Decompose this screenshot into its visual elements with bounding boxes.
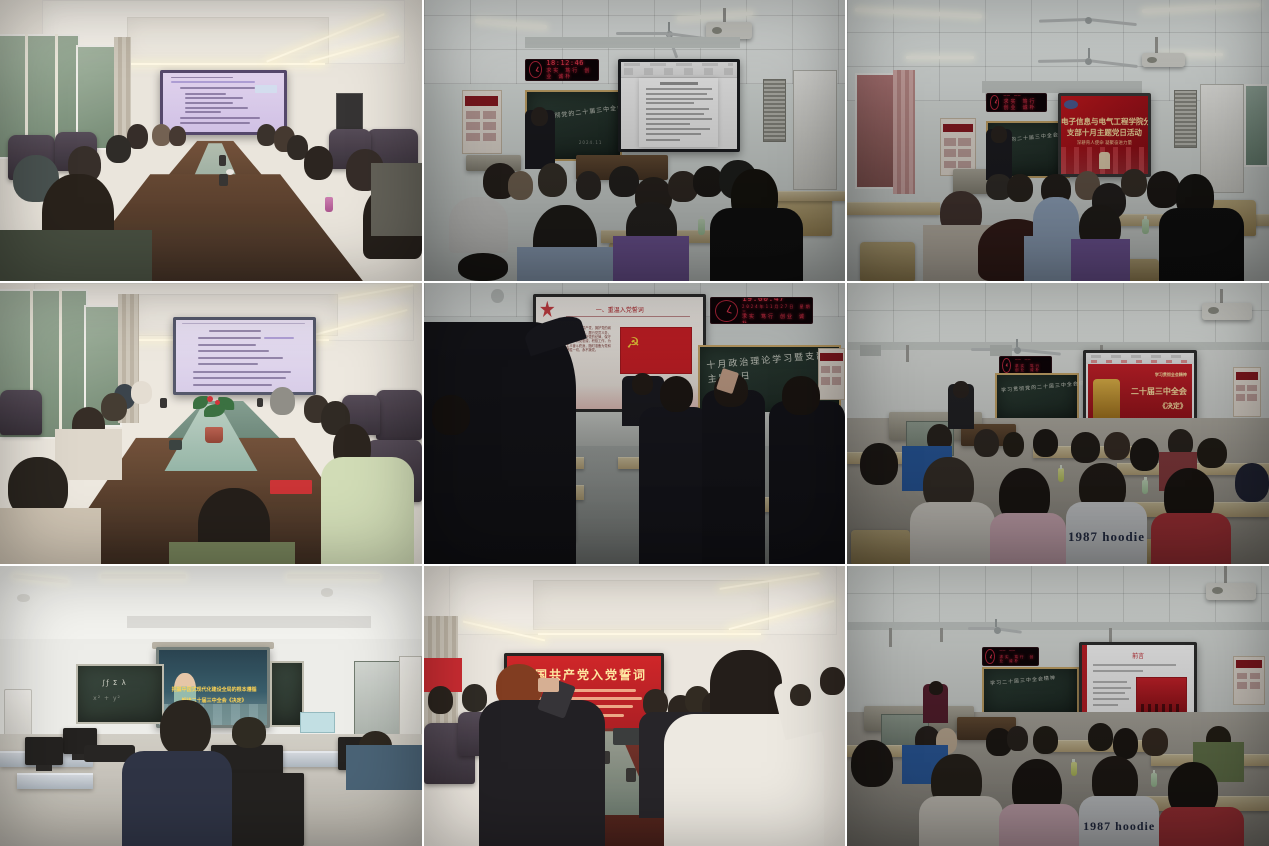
person-head (1033, 429, 1058, 457)
blackboard-left: ∫ƒ Σ λ x² + y² (76, 664, 164, 724)
hammer-sickle-icon: ☭ (626, 336, 639, 351)
person-body-foreground (0, 508, 101, 564)
person-head-cap (1235, 463, 1269, 502)
person-body-suit (479, 700, 605, 846)
person-body-foreground (169, 542, 296, 564)
slide-document-purple (176, 320, 313, 393)
ceiling-fan (965, 619, 1024, 639)
person-head (1104, 432, 1129, 460)
person-body (1159, 208, 1243, 281)
person-head (1007, 726, 1028, 751)
water-bottle (698, 219, 705, 235)
water-bottle (325, 197, 333, 212)
slide-building-graphic (1099, 152, 1109, 169)
person-body-hoodie: 1987 hoodie (1079, 796, 1159, 846)
wall-poster (1233, 367, 1260, 417)
person-foreground-left (424, 322, 576, 564)
ceiling-light-b (101, 574, 185, 579)
person-head (790, 684, 811, 706)
led-banner-text: —— —— 求实 笃行 创业 诚朴 (999, 93, 1046, 112)
classroom-lecture-female-scene: —— —— 求实 笃行 创业 诚朴 学习二十届三中全会精神 前言 (847, 566, 1269, 846)
classroom-party-scene: —— —— 求实 笃行 创业 诚朴 学习党的二十届三中全会精神 (847, 0, 1269, 281)
ceiling-beam (847, 622, 1269, 630)
microphone-b (257, 398, 263, 407)
slide-title-line1: 电子信息与电气工程学院分党委 (1061, 116, 1148, 127)
person-body (55, 429, 123, 480)
person-head (1197, 438, 1227, 469)
led-banner-text: —— —— 求实 笃行 创业 诚朴 (995, 649, 1037, 663)
person-head (232, 717, 266, 748)
person-body-red-2 (1151, 513, 1231, 564)
chair-right-1 (376, 390, 422, 441)
notice-board (300, 712, 336, 734)
person-head (1130, 438, 1160, 472)
poster-title-band (465, 96, 498, 106)
photo-cell-middle-left[interactable] (0, 283, 422, 564)
person-body-pink (990, 513, 1066, 564)
flower-arrangement (190, 393, 241, 444)
person-body-foreground (122, 751, 232, 846)
person-head (851, 740, 893, 788)
wall-poster (940, 118, 976, 176)
led-banner: 18:12:46 求实 笃行 创业 诚朴 (525, 59, 599, 81)
water-bottle (1142, 219, 1149, 234)
led-subtext: 求实 笃行 创业 诚朴 (546, 68, 597, 81)
projection-screen: 电子信息与电气工程学院分党委 支部十月主题党日活动 深耕育人使命 凝聚奋进力量 (1058, 93, 1151, 177)
speaker-mount-2 (940, 628, 943, 642)
speaker-head (953, 381, 968, 398)
person-hood (449, 197, 508, 253)
hoodie-text: 1987 hoodie (1079, 819, 1159, 834)
person-head (1142, 728, 1167, 756)
slide-heading-rule (566, 316, 689, 317)
wall-poster (462, 90, 502, 154)
person-head (1033, 726, 1058, 754)
person-head (576, 171, 601, 199)
lab-bench (17, 773, 93, 789)
person-head (131, 381, 152, 403)
person-body (769, 401, 845, 564)
led-subtext: 求实 笃行 创业 诚朴 (999, 655, 1037, 664)
ceiling-beam (525, 37, 740, 48)
fan-rod (668, 22, 670, 31)
chair (860, 242, 915, 281)
window-right (1244, 84, 1269, 167)
photo-collage-grid: 18:12:46 求实 笃行 创业 诚朴 学习贯彻党的二十届三中全会精神 十月主… (0, 0, 1269, 846)
monitor[interactable] (25, 737, 63, 765)
photo-cell-top-right[interactable]: —— —— 求实 笃行 创业 诚朴 学习党的二十届三中全会精神 (847, 0, 1269, 281)
drink-bottle (1071, 762, 1077, 776)
wall-fan-2 (990, 345, 1011, 356)
wall-poster (1233, 656, 1265, 706)
person-head (458, 253, 509, 281)
led-banner: —— —— 求实 笃行 创业 诚朴 (982, 647, 1039, 666)
person-head (508, 171, 533, 199)
person-head (660, 376, 694, 413)
person-head (1003, 432, 1024, 457)
person-head (860, 443, 898, 485)
microphone-a (219, 155, 226, 166)
person-body (346, 745, 422, 790)
desk-row (847, 202, 940, 214)
person-head-foreground (160, 700, 211, 756)
person-head (106, 135, 131, 163)
led-banner: —— —— 求实 笃行 创业 诚朴 (986, 93, 1047, 112)
curtain (893, 70, 914, 194)
photo-cell-bottom-center[interactable]: 中国共产党入党誓词 (424, 566, 845, 846)
speaker-head (929, 681, 943, 695)
blackboard-text: 学习贯彻党的二十届三中全会精神 (1001, 379, 1091, 394)
speaker-head (531, 107, 548, 127)
ceiling-light-c (287, 574, 380, 579)
person-head (632, 373, 653, 395)
ppt-toolbar (1086, 353, 1194, 364)
fan-blade (616, 32, 668, 35)
projection-surface (176, 320, 313, 393)
chair (851, 530, 910, 564)
person-head (169, 126, 186, 146)
ceiling-coffer-inner (127, 17, 330, 64)
oath-ceremony-scene: 一、重温入党誓词 ☭ 我志愿加入中国共产党，拥护党的纲领，遵守党的章程，履行党员… (424, 283, 845, 564)
projector[interactable] (1206, 583, 1257, 600)
wall-vent (1174, 90, 1197, 148)
desk-item (226, 169, 234, 175)
blackboard-right (270, 661, 304, 727)
person-body (371, 163, 422, 236)
ceiling-beam (982, 81, 1142, 92)
wall-poster (818, 348, 845, 401)
speaker-mount (906, 345, 909, 362)
classroom-door[interactable] (1200, 84, 1244, 193)
ceiling-speaker-2 (321, 588, 334, 596)
computer-lab-scene: 把握中国式现代化建设全局的根本遵循 解读二十届三中全会《决定》 ∫ƒ Σ λ x… (0, 566, 422, 846)
speaker-mount (889, 628, 892, 648)
ceiling-camera (491, 289, 504, 303)
slide-title-red: 电子信息与电气工程学院分党委 支部十月主题党日活动 深耕育人使命 凝聚奋进力量 (1061, 96, 1148, 174)
speaker-mount-3 (1109, 628, 1112, 642)
slide-heading: 一、重温入党誓词 (550, 305, 690, 314)
led-subtext: 求实 笃行 创业 诚朴 (1003, 99, 1046, 112)
led-banner: 19:00:47 2024年11月27日 星期三 求实 笃行 创业 诚朴 (710, 297, 813, 324)
led-clock-icon (529, 61, 542, 78)
person-head (101, 393, 126, 421)
university-logo (1064, 100, 1078, 109)
led-subtext: 求实 笃行 创业 诚朴 (742, 314, 812, 324)
microphone-b (626, 768, 636, 782)
person-body (321, 457, 414, 564)
ceiling-speaker (17, 594, 30, 602)
person-body (919, 796, 1003, 846)
led-banner-text: 18:12:46 求实 笃行 创业 诚朴 (542, 59, 597, 80)
led-clock-icon (985, 649, 995, 664)
blackboard-text: 学习二十届三中全会精神 (989, 674, 1055, 687)
person-head (1113, 728, 1138, 759)
ceiling-fan-far (1037, 3, 1138, 28)
water-bottle (1151, 773, 1157, 787)
projector[interactable] (1202, 303, 1253, 320)
person-head (270, 387, 295, 415)
projection-surface: 电子信息与电气工程学院分党委 支部十月主题党日活动 深耕育人使命 凝聚奋进力量 (1061, 96, 1148, 174)
led-clock-icon (715, 300, 738, 322)
led-banner-text: —— —— 求实 笃行 创业 诚朴 (1011, 358, 1051, 372)
poster-title-band (820, 353, 842, 361)
photo-cell-top-left[interactable] (0, 0, 422, 281)
microphone-a (160, 398, 167, 408)
slide-title-line1: 二十届三中全会 (1131, 386, 1187, 397)
slide-title-line2: 支部十月主题党日活动 (1061, 127, 1148, 138)
person-body-foreground (0, 230, 152, 281)
person-head (820, 667, 845, 695)
person-body (517, 247, 618, 281)
person-head (1007, 174, 1032, 202)
led-subtext: 求实 笃行 创业 诚朴 (1015, 364, 1051, 373)
ceiling-beam (127, 616, 372, 627)
projector[interactable] (1142, 53, 1184, 67)
person-head (428, 686, 453, 714)
photo-cell-bottom-right[interactable]: —— —— 求实 笃行 创业 诚朴 学习二十届三中全会精神 前言 (847, 566, 1269, 846)
person-head (538, 163, 567, 197)
person-body (639, 407, 711, 564)
classroom-door[interactable] (793, 70, 837, 190)
led-clock-icon (990, 95, 1000, 110)
hoodie-text: 1987 hoodie (1066, 529, 1146, 545)
conference-room-scene (0, 0, 422, 281)
photo-cell-bottom-left[interactable]: 把握中国式现代化建设全局的根本遵循 解读二十届三中全会《决定》 ∫ƒ Σ λ x… (0, 566, 422, 846)
document-page (639, 78, 718, 147)
interactive-whiteboard[interactable] (618, 59, 740, 152)
led-time: 18:12:46 (546, 59, 597, 68)
red-envelope (270, 480, 312, 494)
desk-row (773, 191, 845, 200)
classroom-plenum-scene: —— —— 求实 笃行 创业 诚朴 学习贯彻党的二十届三中全会精神 学习贯彻全会… (847, 283, 1269, 564)
poster-title-band (1236, 372, 1258, 380)
ceiling-fan-near (1033, 48, 1143, 73)
chair-left (0, 390, 42, 435)
video-subtitle-1: 把握中国式现代化建设全局的根本遵循 (166, 686, 263, 693)
blackboard: 学习贯彻党的二十届三中全会精神 (995, 373, 1079, 422)
conference-study-scene (0, 283, 422, 564)
slide-title: 前言 (1082, 651, 1194, 660)
photo-cell-middle-right[interactable]: —— —— 求实 笃行 创业 诚朴 学习贯彻党的二十届三中全会精神 学习贯彻全会… (847, 283, 1269, 564)
slide-topline: 学习贯彻全会精神 (1155, 372, 1187, 378)
person-head (1088, 723, 1113, 751)
person-head (1071, 432, 1101, 463)
whiteboard-surface (621, 62, 737, 149)
person-body-pink (999, 804, 1079, 846)
oath-conference-scene: 中国共产党入党誓词 (424, 566, 845, 846)
ceiling-light-strip-center (127, 63, 325, 65)
party-flag: ☭ (620, 327, 692, 374)
led-clock-icon (1002, 358, 1011, 373)
led-banner-text: 19:00:47 2024年11月27日 星期三 求实 笃行 创业 诚朴 (738, 297, 812, 324)
person-head-foreground (710, 650, 782, 723)
slide-title-line2: 《决定》 (1159, 401, 1187, 411)
person-head (1121, 169, 1146, 197)
window-mullion-b (59, 289, 62, 435)
person-body (910, 502, 994, 564)
microphone-b (219, 174, 228, 186)
poster-title-band (1236, 660, 1262, 668)
person-body (702, 390, 765, 564)
person-head (974, 429, 999, 457)
led-date: 2024年11月27日 星期三 (742, 304, 812, 314)
raised-fist (538, 678, 559, 692)
poster-title-band (943, 124, 973, 133)
photo-cell-top-center[interactable]: 18:12:46 求实 笃行 创业 诚朴 学习贯彻党的二十届三中全会精神 十月主… (424, 0, 845, 281)
ceiling-light-c (906, 56, 974, 59)
drink-bottle (1058, 468, 1064, 482)
person-head (432, 395, 470, 434)
document-ribbon (621, 62, 737, 78)
photo-cell-middle-center[interactable]: 一、重温入党誓词 ☭ 我志愿加入中国共产党，拥护党的纲领，遵守党的章程，履行党员… (424, 283, 845, 564)
wall-fan (860, 345, 881, 356)
speaker-head (991, 126, 1006, 143)
person-head (304, 146, 334, 180)
wall-vent (763, 79, 786, 143)
person-body (710, 208, 803, 281)
person-body-red (1159, 807, 1243, 846)
tissue-box (169, 440, 182, 450)
person-body (1071, 239, 1130, 281)
person-head (782, 376, 820, 415)
projection-screen (173, 317, 316, 396)
water-bottle (1142, 480, 1148, 494)
ceiling-light-strip-center (538, 633, 761, 635)
slide-subtitle: 深耕育人使命 凝聚奋进力量 (1061, 140, 1148, 146)
classroom-scene: 18:12:46 求实 笃行 创业 诚朴 学习贯彻党的二十届三中全会精神 十月主… (424, 0, 845, 281)
person-head (462, 684, 487, 712)
slide-word-document (621, 62, 737, 149)
person-body (613, 236, 689, 281)
person-body-hoodie: 1987 hoodie (1066, 502, 1146, 564)
